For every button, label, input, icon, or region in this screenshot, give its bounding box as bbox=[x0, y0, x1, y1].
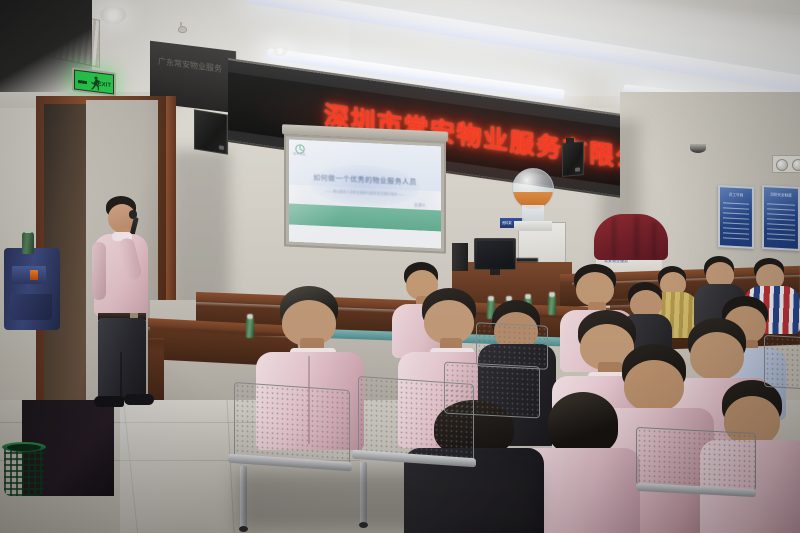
ceiling-downlight-left bbox=[100, 6, 126, 24]
info-board-2: 消防安全制度 bbox=[762, 185, 800, 251]
dome-camera-icon bbox=[690, 144, 706, 153]
pc-tower-icon bbox=[452, 243, 468, 271]
audience-hair-bun bbox=[548, 392, 618, 454]
slide-logo-label: 常安物业 bbox=[293, 151, 306, 157]
training-room-photo: 广东常安物业服务 深圳市常安物业服务有限公司员工培训 EXIT 常安物业 如何做… bbox=[0, 0, 800, 533]
gang-chair-far-right[interactable] bbox=[764, 336, 800, 396]
speaker-presenter bbox=[86, 196, 172, 416]
presenter-arm-left bbox=[92, 242, 106, 300]
water-bottle bbox=[246, 318, 254, 338]
ceiling-downlight-mid bbox=[272, 46, 288, 56]
gang-chair-right-1[interactable] bbox=[636, 430, 756, 533]
red-drape-cloth bbox=[594, 214, 668, 260]
wall-speaker-right bbox=[562, 141, 584, 177]
gang-chair-right-2[interactable] bbox=[476, 324, 548, 376]
glass-globe-icon bbox=[512, 168, 554, 210]
led-side-label: 广东常安物业服务 bbox=[158, 56, 222, 75]
emergency-light-icon bbox=[772, 155, 800, 173]
water-cooler-icon[interactable] bbox=[4, 248, 60, 330]
cooler-bottle bbox=[22, 232, 34, 254]
presenter-trousers bbox=[98, 318, 146, 400]
presenter-shoe-right bbox=[124, 394, 154, 405]
waste-bin-icon bbox=[4, 446, 44, 496]
wall-speaker-left bbox=[194, 109, 228, 154]
slide-author: 主讲人 bbox=[414, 202, 426, 209]
info-board-1: 员工守则 bbox=[718, 185, 754, 249]
cooler-bottle-cap bbox=[24, 228, 32, 233]
presenter-shoe-left bbox=[94, 396, 124, 407]
blue-box-label: 资料架 bbox=[502, 220, 512, 225]
chair-backrest bbox=[234, 382, 350, 466]
projection-screen-icon: 常安物业 如何做一个优秀的物业服务人员 —— 物业服务人员职业素养与服务意识提升… bbox=[284, 134, 446, 253]
computer-monitor-icon bbox=[474, 238, 516, 270]
exit-arrow-icon bbox=[78, 80, 87, 84]
